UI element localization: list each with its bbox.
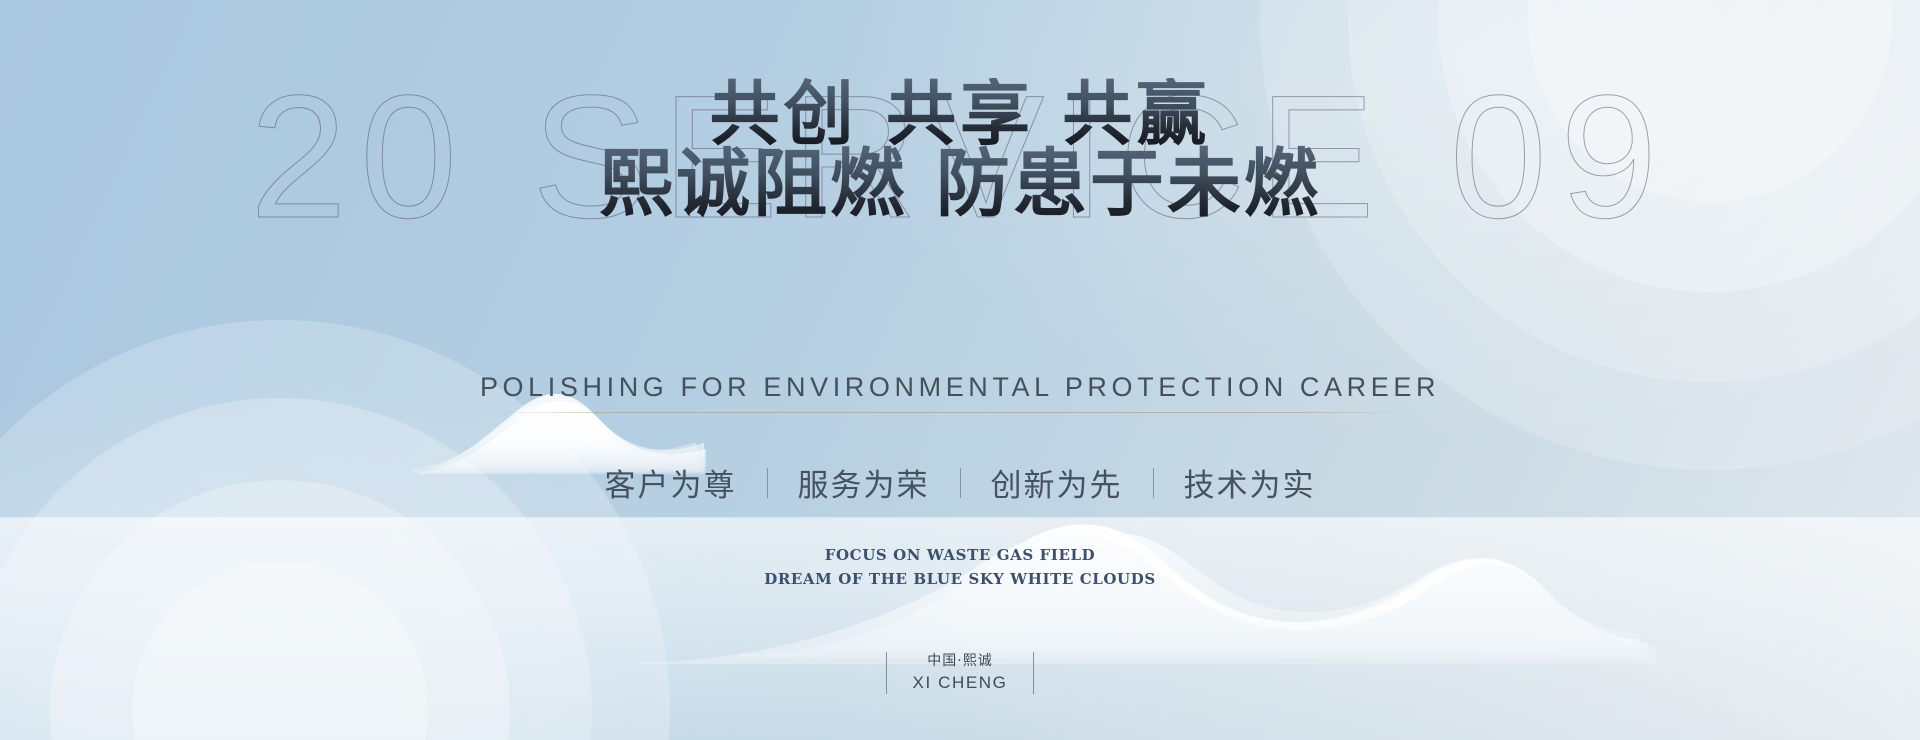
ring-mid-outer bbox=[1348, 0, 1920, 382]
footer-bar-right bbox=[1033, 652, 1034, 694]
background-sheen bbox=[0, 0, 1920, 740]
caption-line-1: FOCUS ON WASTE GAS FIELD bbox=[0, 544, 1920, 568]
ring-outer bbox=[1260, 0, 1920, 470]
english-subtitle: POLISHING FOR ENVIRONMENTAL PROTECTION C… bbox=[0, 372, 1920, 403]
footer-logo-texts: 中国·熙诚 XI CHENG bbox=[913, 652, 1008, 694]
slogan-separator-3 bbox=[1153, 468, 1154, 498]
footer-logo-en: XI CHENG bbox=[913, 672, 1008, 694]
slogan-row: 客户为尊 服务为荣 创新为先 技术为实 bbox=[0, 460, 1920, 505]
slogan-separator-2 bbox=[960, 468, 961, 498]
serif-caption-block: FOCUS ON WASTE GAS FIELD DREAM OF THE BL… bbox=[0, 544, 1920, 591]
concentric-rings-top-right bbox=[1260, 0, 1920, 470]
ring-mid-inner bbox=[50, 480, 510, 740]
cloud-shape-left bbox=[408, 394, 706, 474]
cloud-illustration-layer bbox=[0, 0, 1920, 740]
slogan-item-3: 创新为先 bbox=[961, 460, 1153, 505]
caption-line-2: DREAM OF THE BLUE SKY WHITE CLOUDS bbox=[0, 568, 1920, 592]
slogan-item-1: 客户为尊 bbox=[575, 460, 767, 505]
subtitle-divider-rule bbox=[498, 412, 1408, 413]
footer-logo-lockup: 中国·熙诚 XI CHENG bbox=[0, 652, 1920, 694]
ring-inner bbox=[1528, 0, 1892, 202]
slogan-separator-1 bbox=[767, 468, 768, 498]
slogan-item-4: 技术为实 bbox=[1154, 460, 1346, 505]
horizon-line bbox=[0, 517, 1920, 518]
ring-mid-inner bbox=[1438, 0, 1920, 292]
footer-bar-left bbox=[886, 652, 887, 694]
headline-line-1: 共创 共享 共赢 bbox=[0, 78, 1920, 149]
slogan-item-2: 服务为荣 bbox=[768, 460, 960, 505]
ground-band bbox=[0, 518, 1920, 740]
cloud-shape-right bbox=[640, 524, 1656, 664]
headline-line-2: 熙诚阻燃 防患于未燃 bbox=[0, 145, 1920, 223]
background-outline-text: 20 SERVICE 09 bbox=[0, 70, 1920, 245]
footer-logo-cn: 中国·熙诚 bbox=[913, 652, 1008, 670]
promotional-banner: 20 SERVICE 09 bbox=[0, 0, 1920, 740]
headline-block: 共创 共享 共赢 熙诚阻燃 防患于未燃 bbox=[0, 78, 1920, 224]
